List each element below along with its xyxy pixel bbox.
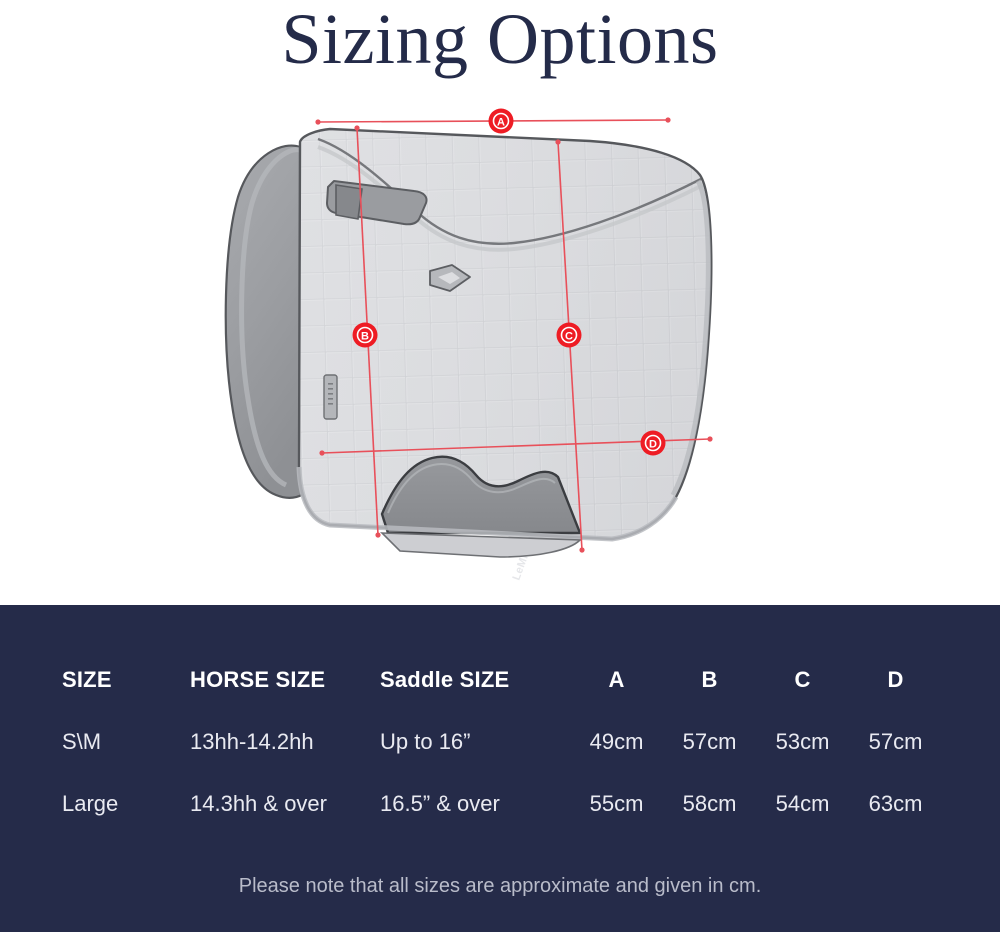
page-title: Sizing Options [0,0,1000,82]
column-header-horse-size: HORSE SIZE [190,667,380,729]
cell-a: 55cm [570,791,663,817]
cell-horse-size: 14.3hh & over [190,791,380,817]
cell-c: 54cm [756,791,849,817]
saddle-pad-diagram: LeMieux LeMieux [0,95,1000,595]
cell-a: 49cm [570,729,663,791]
cell-b: 58cm [663,791,756,817]
marker-badge-d: D [641,431,666,456]
table-row: Large 14.3hh & over 16.5” & over 55cm 58… [62,791,942,817]
cell-d: 57cm [849,729,942,791]
table-row: S\M 13hh-14.2hh Up to 16” 49cm 57cm 53cm… [62,729,942,791]
side-label-tab [324,375,337,419]
marker-badge-b: B [353,323,378,348]
marker-label-b: B [361,331,369,343]
marker-badge-c: C [557,323,582,348]
cell-c: 53cm [756,729,849,791]
table-header-row: SIZE HORSE SIZE Saddle SIZE A B C D [62,667,942,729]
column-header-saddle-size: Saddle SIZE [380,667,570,729]
cell-horse-size: 13hh-14.2hh [190,729,380,791]
column-header-c: C [756,667,849,729]
saddle-pad-illustration: LeMieux LeMieux [0,95,1000,595]
sizing-table: SIZE HORSE SIZE Saddle SIZE A B C D S\M … [62,667,942,817]
column-header-d: D [849,667,942,729]
cell-b: 57cm [663,729,756,791]
marker-badge-a: A [489,109,514,134]
cell-saddle-size: Up to 16” [380,729,570,791]
cell-size: Large [62,791,190,817]
sizing-table-section: SIZE HORSE SIZE Saddle SIZE A B C D S\M … [0,605,1000,932]
cell-saddle-size: 16.5” & over [380,791,570,817]
column-header-b: B [663,667,756,729]
cell-d: 63cm [849,791,942,817]
marker-label-d: D [649,439,657,451]
column-header-size: SIZE [62,667,190,729]
column-header-a: A [570,667,663,729]
marker-label-c: C [565,331,573,343]
table-footnote: Please note that all sizes are approxima… [0,875,1000,898]
header-section: Sizing Options [0,0,1000,605]
marker-label-a: A [497,117,505,129]
cell-size: S\M [62,729,190,791]
